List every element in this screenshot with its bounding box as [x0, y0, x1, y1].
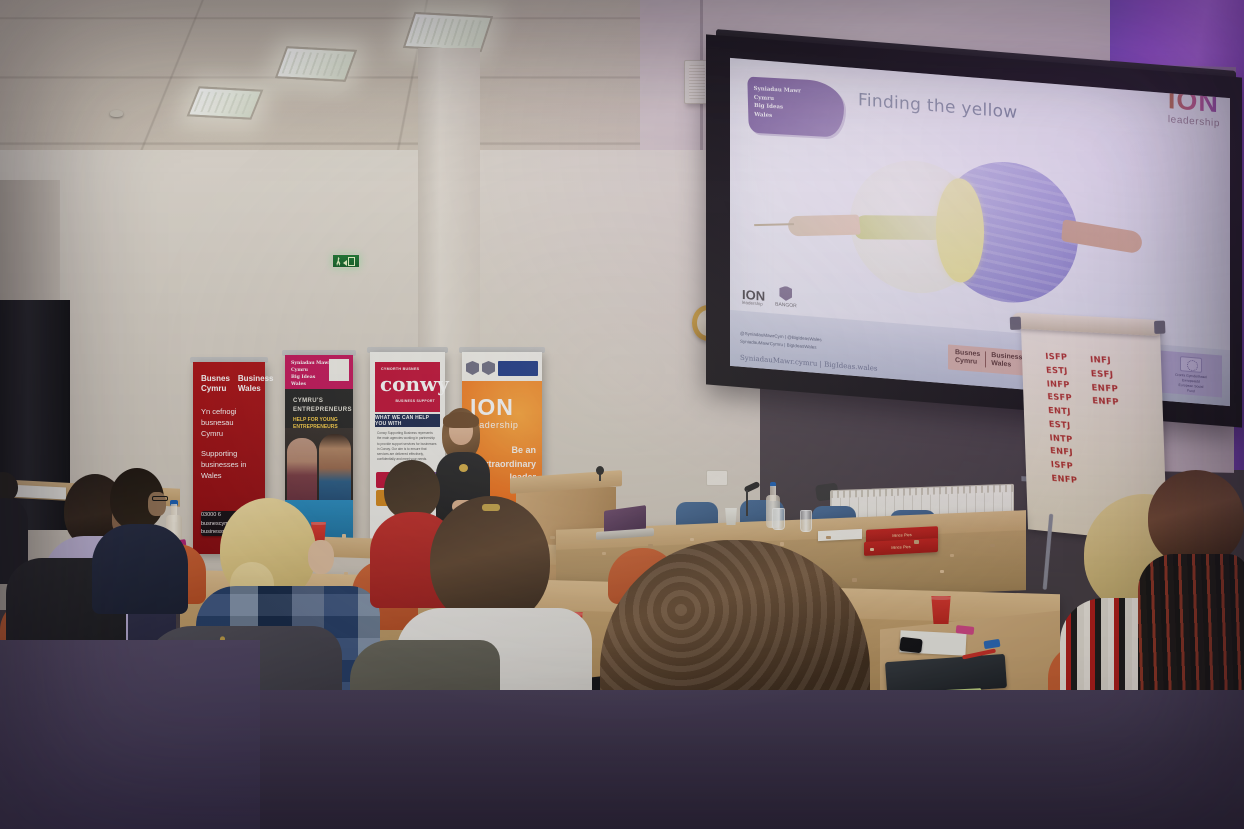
slide-footer-bangor-name: BANGOR [775, 301, 797, 309]
red-cup-4 [930, 596, 952, 624]
wall-socket [706, 470, 728, 486]
bw-english-bottom: Wales [238, 384, 274, 394]
hair-clip-icon [482, 504, 500, 511]
slide-title: Finding the yellow [858, 90, 1018, 123]
smoke-detector-icon [110, 110, 123, 117]
slide-badge-welsh: Busnes Cymru [955, 348, 980, 368]
slide-footer-bangor-logo: BANGOR [775, 285, 797, 309]
bi-chalk-line-3: HELP FOR YOUNG [293, 417, 338, 424]
bw-banner-header: Busnes Cymru Business Wales [193, 362, 265, 395]
conwy-kicker-en: BUSINESS SUPPORT [396, 399, 435, 403]
bw-welsh-bottom: Cymru [201, 384, 230, 394]
bi-chalk-line-2: ENTREPRENEURS [293, 406, 352, 415]
slide-badge-welsh-bottom: Cymru [955, 357, 980, 368]
bi-chalk-headline: CYMRU'S ENTREPRENEURS [293, 397, 352, 415]
illustration-hand-left [787, 215, 861, 237]
bi-english-2: Wales [291, 381, 347, 388]
slide-bigideas-brandmark: Syniadau Mawr Cymru Big Ideas Wales [747, 77, 844, 138]
ion-banner-partner-logos [466, 357, 538, 379]
bw-english-top: Business [238, 374, 274, 384]
lectern-microphone-icon [596, 466, 604, 475]
partner-crest-icon-2 [482, 361, 495, 375]
slide-brand-en2: Wales [754, 110, 802, 121]
floor-carpet-left [0, 640, 260, 829]
conwy-body-text: Conwy Supporting Business represents the… [377, 431, 438, 463]
ceiling-light-2 [275, 46, 357, 82]
eyeglasses-icon [152, 496, 168, 501]
attendee-man-glasses [92, 468, 188, 608]
partner-crest-icon-1 [466, 361, 479, 375]
box-label-1: Mince Pies [892, 532, 912, 538]
flip-cell-0-1: INFJ [1090, 354, 1123, 369]
slide-illustration [850, 146, 1120, 318]
mobile-phone-2 [899, 637, 923, 654]
flipchart-clip-left [1010, 317, 1021, 330]
conwy-strip-headline: WHAT WE CAN HELP YOU WITH [375, 414, 440, 427]
flipchart-clip-right [1154, 321, 1165, 334]
ceiling-light-1 [187, 86, 264, 119]
flip-cell-1-1: ESFJ [1090, 368, 1123, 383]
photo-scene: Syniadau Mawr Cymru Big Ideas Wales Find… [0, 0, 1244, 829]
water-glass-1 [772, 508, 785, 530]
illustration-brush-smear [853, 215, 948, 240]
slide-badge-divider [985, 352, 986, 368]
water-glass-2 [800, 510, 812, 532]
bi-brand-block: Syniadau Mawr Cymru Big Ideas Wales [285, 355, 353, 389]
bangor-crest-icon [779, 285, 792, 301]
conwy-kicker-cy: CYMORTH BUSNES [381, 367, 419, 371]
bi-photo-faces [285, 428, 353, 500]
flip-cell-1-0: ESTJ [1046, 365, 1078, 380]
box-label-2: Mince Pies [891, 544, 911, 550]
eu-funding-logo-icon [498, 361, 538, 376]
back-mic-stand [746, 490, 748, 516]
flip-cell-3-1: ENFP [1092, 396, 1125, 412]
bi-face-right [319, 434, 351, 500]
bw-welsh-top: Busnes [201, 374, 230, 384]
presenter-laptop [596, 508, 654, 538]
bw-tagline-cy: Yn cefnogi busnesau Cymru [193, 407, 265, 440]
bi-chalk-line-1: CYMRU'S [293, 397, 352, 406]
flip-cell-0-0: ISFP [1045, 351, 1077, 366]
flip-cell-9-0: ENFP [1051, 473, 1083, 490]
presenter-brooch [459, 464, 468, 472]
slide-footer-ion-logo: ION leadership [742, 287, 765, 306]
conwy-wordmark: conwy [380, 374, 449, 394]
ceiling-light-3 [403, 12, 493, 52]
bw-tagline-en: Supporting businesses in Wales [193, 449, 265, 482]
exit-sign [332, 254, 360, 268]
bi-partner-logo [329, 359, 349, 381]
bi-face-left [287, 438, 317, 500]
slide-footer-ion-sub: leadership [742, 300, 765, 306]
slide-footer-logos: ION leadership BANGOR [742, 282, 797, 309]
conwy-logo-block: CYMORTH BUSNES conwy BUSINESS SUPPORT [375, 362, 440, 412]
